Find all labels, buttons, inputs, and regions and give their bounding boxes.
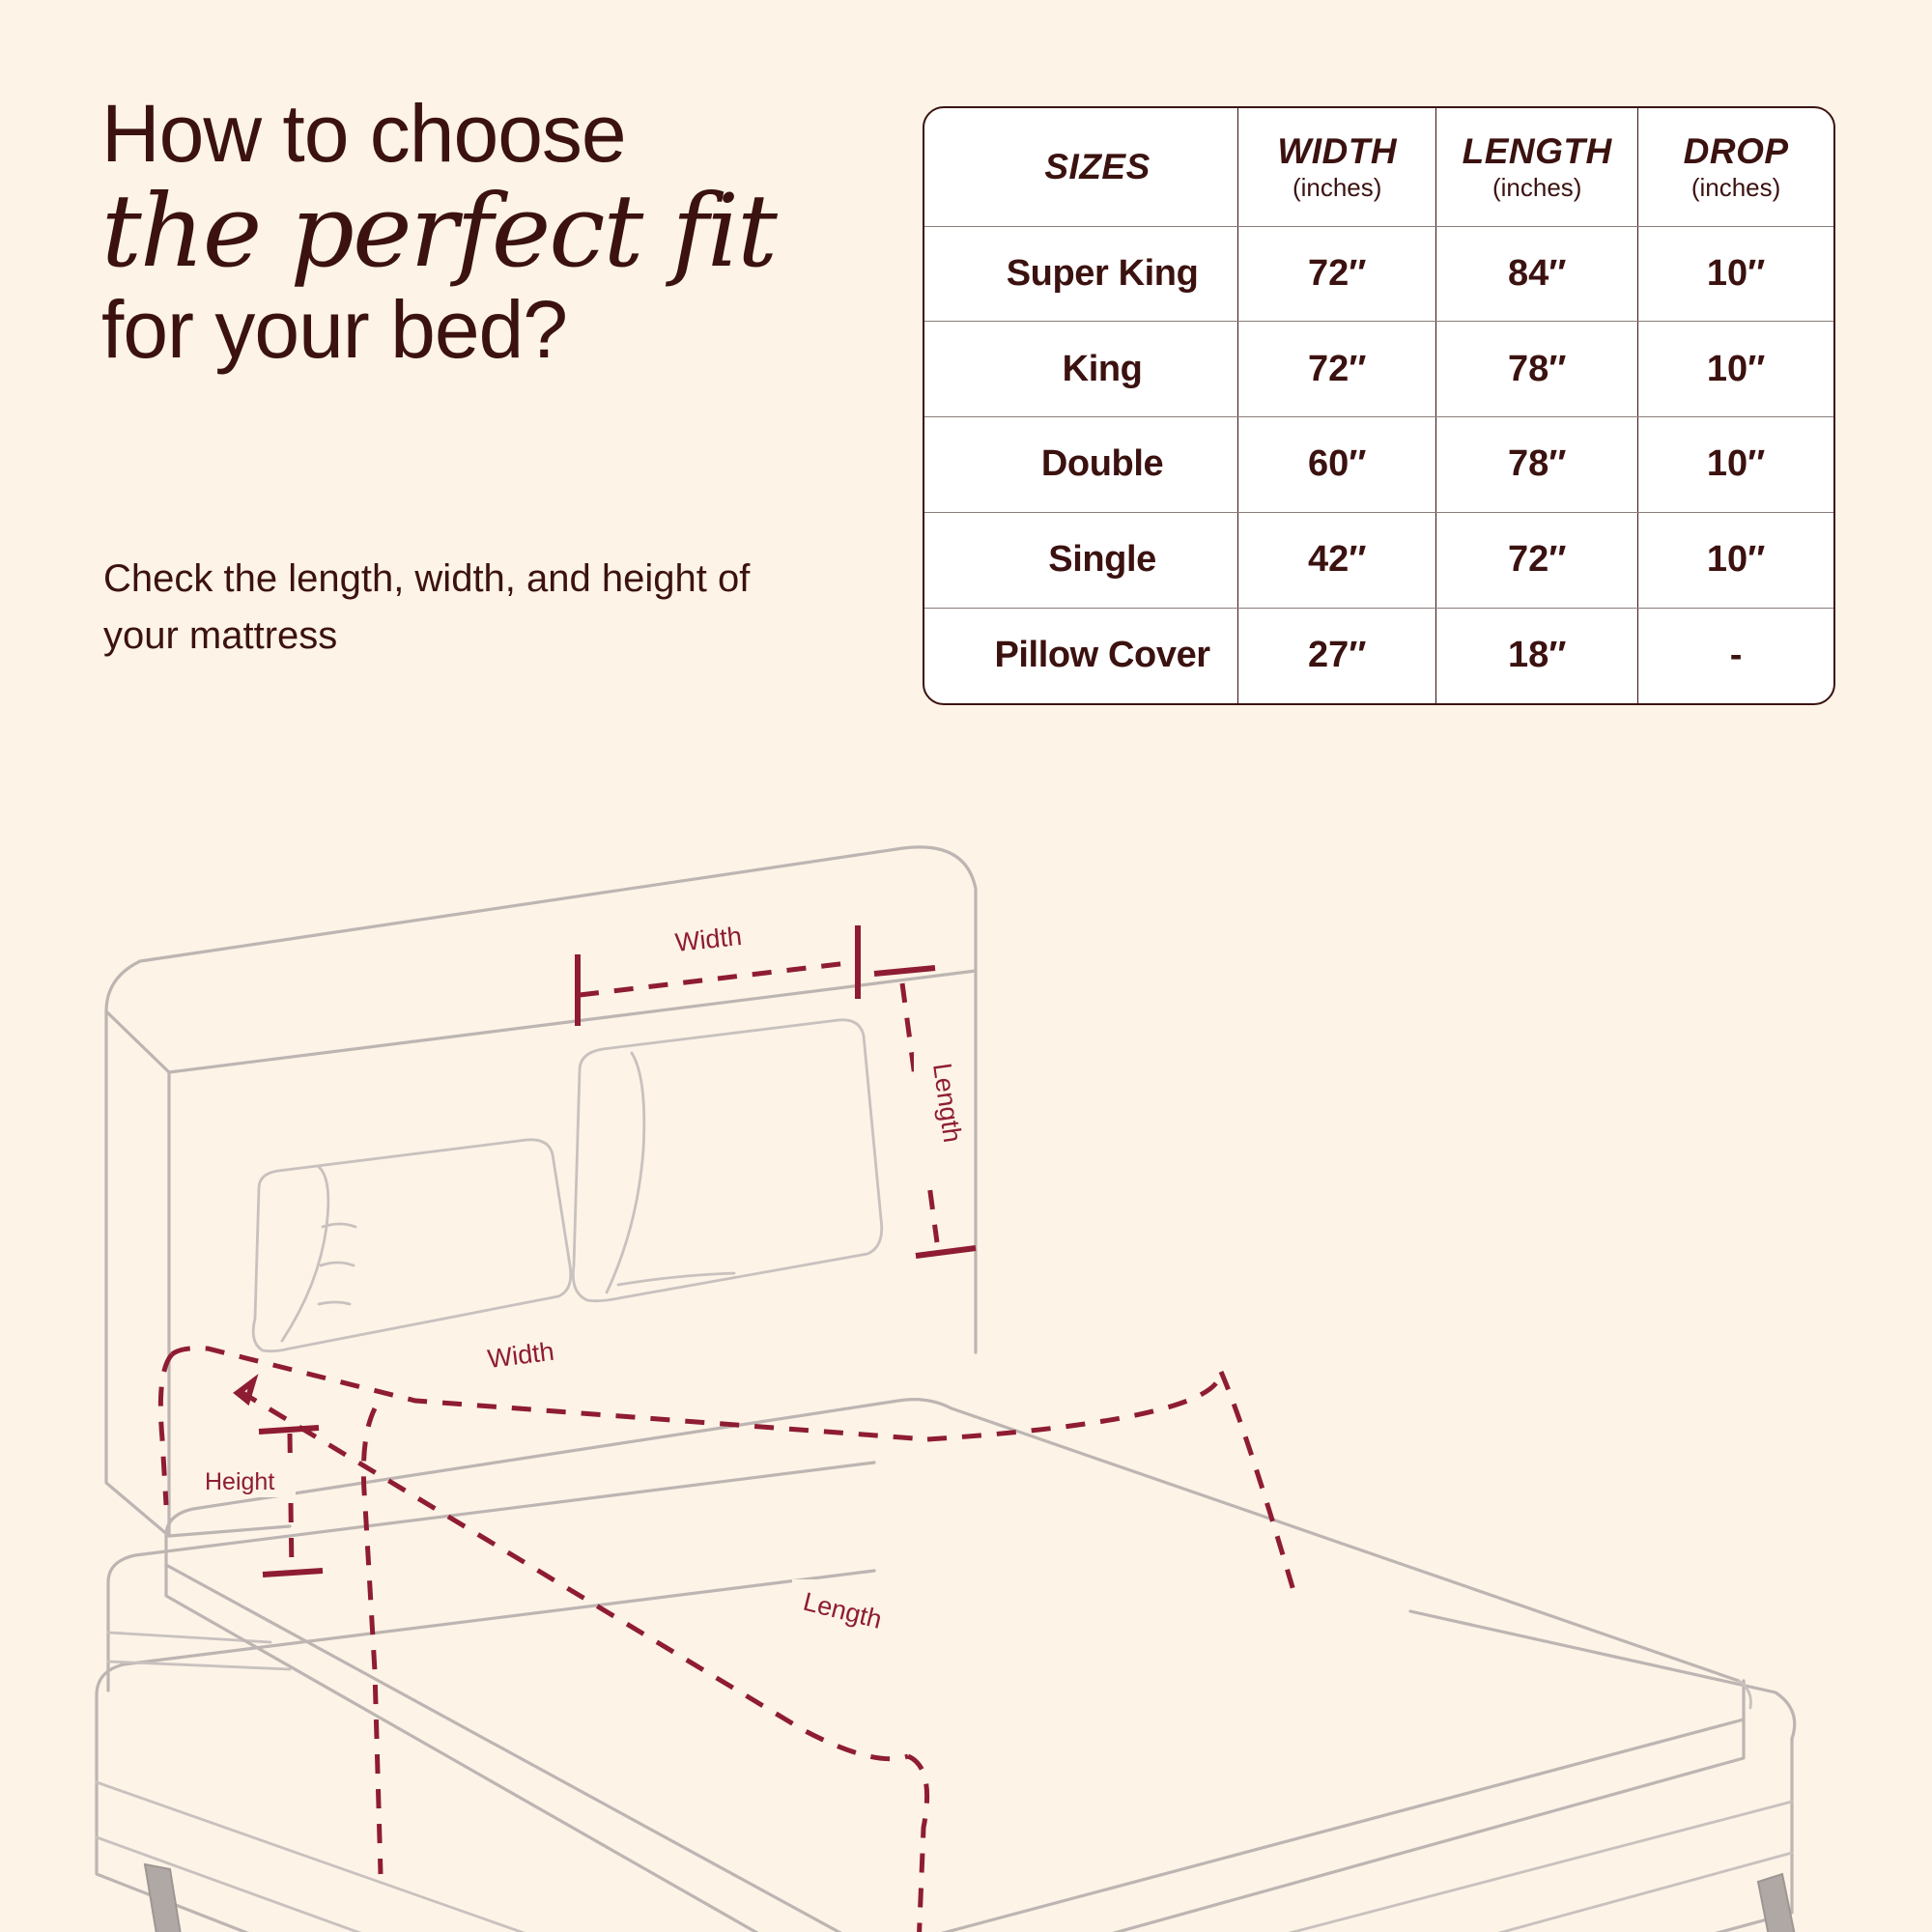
pillow-back-left — [253, 1140, 571, 1351]
bed-legs — [145, 1864, 1806, 1932]
headline-line-1: How to choose — [101, 87, 874, 180]
column-header-drop: DROP (inches) — [1638, 108, 1833, 226]
column-header-width-label: WIDTH — [1248, 131, 1426, 172]
cell-length: 18″ — [1436, 608, 1638, 703]
cell-length: 72″ — [1436, 512, 1638, 608]
cell-width: 27″ — [1238, 608, 1436, 703]
column-header-width: WIDTH (inches) — [1238, 108, 1436, 226]
table-row: Single 42″ 72″ 10″ — [924, 512, 1833, 608]
column-header-length: LENGTH (inches) — [1436, 108, 1638, 226]
cell-length: 78″ — [1436, 322, 1638, 417]
headline-line-2-italic: the perfect fit — [101, 174, 874, 288]
mattress — [166, 1400, 1751, 1932]
cell-width: 72″ — [1238, 226, 1436, 322]
cell-size-name: Pillow Cover — [924, 608, 1238, 703]
column-header-sizes: SIZES — [924, 108, 1238, 226]
bed-illustration: Width Length Width — [0, 763, 1932, 1932]
column-header-width-unit: (inches) — [1248, 172, 1426, 203]
size-chart-table: SIZES WIDTH (inches) LENGTH (inches) DRO… — [923, 106, 1835, 705]
cell-width: 42″ — [1238, 512, 1436, 608]
column-header-drop-label: DROP — [1648, 131, 1824, 172]
pillow-front-right — [573, 1020, 881, 1301]
column-header-drop-unit: (inches) — [1648, 172, 1824, 203]
headboard-shape — [106, 847, 976, 1536]
table-header-row: SIZES WIDTH (inches) LENGTH (inches) DRO… — [924, 108, 1833, 226]
cell-drop: 10″ — [1638, 322, 1833, 417]
bed-base — [97, 1571, 1795, 1932]
mattress-height-dimension: Height — [199, 1428, 323, 1575]
column-header-length-unit: (inches) — [1446, 172, 1628, 203]
table-row: Pillow Cover 27″ 18″ - — [924, 608, 1833, 703]
cell-width: 60″ — [1238, 417, 1436, 513]
column-header-length-label: LENGTH — [1446, 131, 1628, 172]
cell-size-name: Single — [924, 512, 1238, 608]
table-row: King 72″ 78″ 10″ — [924, 322, 1833, 417]
cell-size-name: Double — [924, 417, 1238, 513]
headline-block: How to choose the perfect fit for your b… — [101, 87, 874, 377]
table-row: Double 60″ 78″ 10″ — [924, 417, 1833, 513]
cell-drop: 10″ — [1638, 226, 1833, 322]
cell-drop: 10″ — [1638, 512, 1833, 608]
cell-drop: 10″ — [1638, 417, 1833, 513]
cell-size-name: King — [924, 322, 1238, 417]
pillow-length-dimension: Length — [874, 968, 976, 1256]
subheadline-text: Check the length, width, and height of y… — [103, 551, 780, 665]
cell-drop: - — [1638, 608, 1833, 703]
cell-length: 78″ — [1436, 417, 1638, 513]
infographic-canvas: How to choose the perfect fit for your b… — [0, 0, 1932, 1932]
cell-length: 84″ — [1436, 226, 1638, 322]
headline-line-3: for your bed? — [101, 282, 874, 377]
column-header-sizes-label: SIZES — [967, 147, 1228, 187]
cell-size-name: Super King — [924, 226, 1238, 322]
mattress-height-label: Height — [205, 1468, 274, 1495]
pillow-width-dimension: Width — [578, 922, 858, 1026]
cell-width: 72″ — [1238, 322, 1436, 417]
table-row: Super King 72″ 84″ 10″ — [924, 226, 1833, 322]
